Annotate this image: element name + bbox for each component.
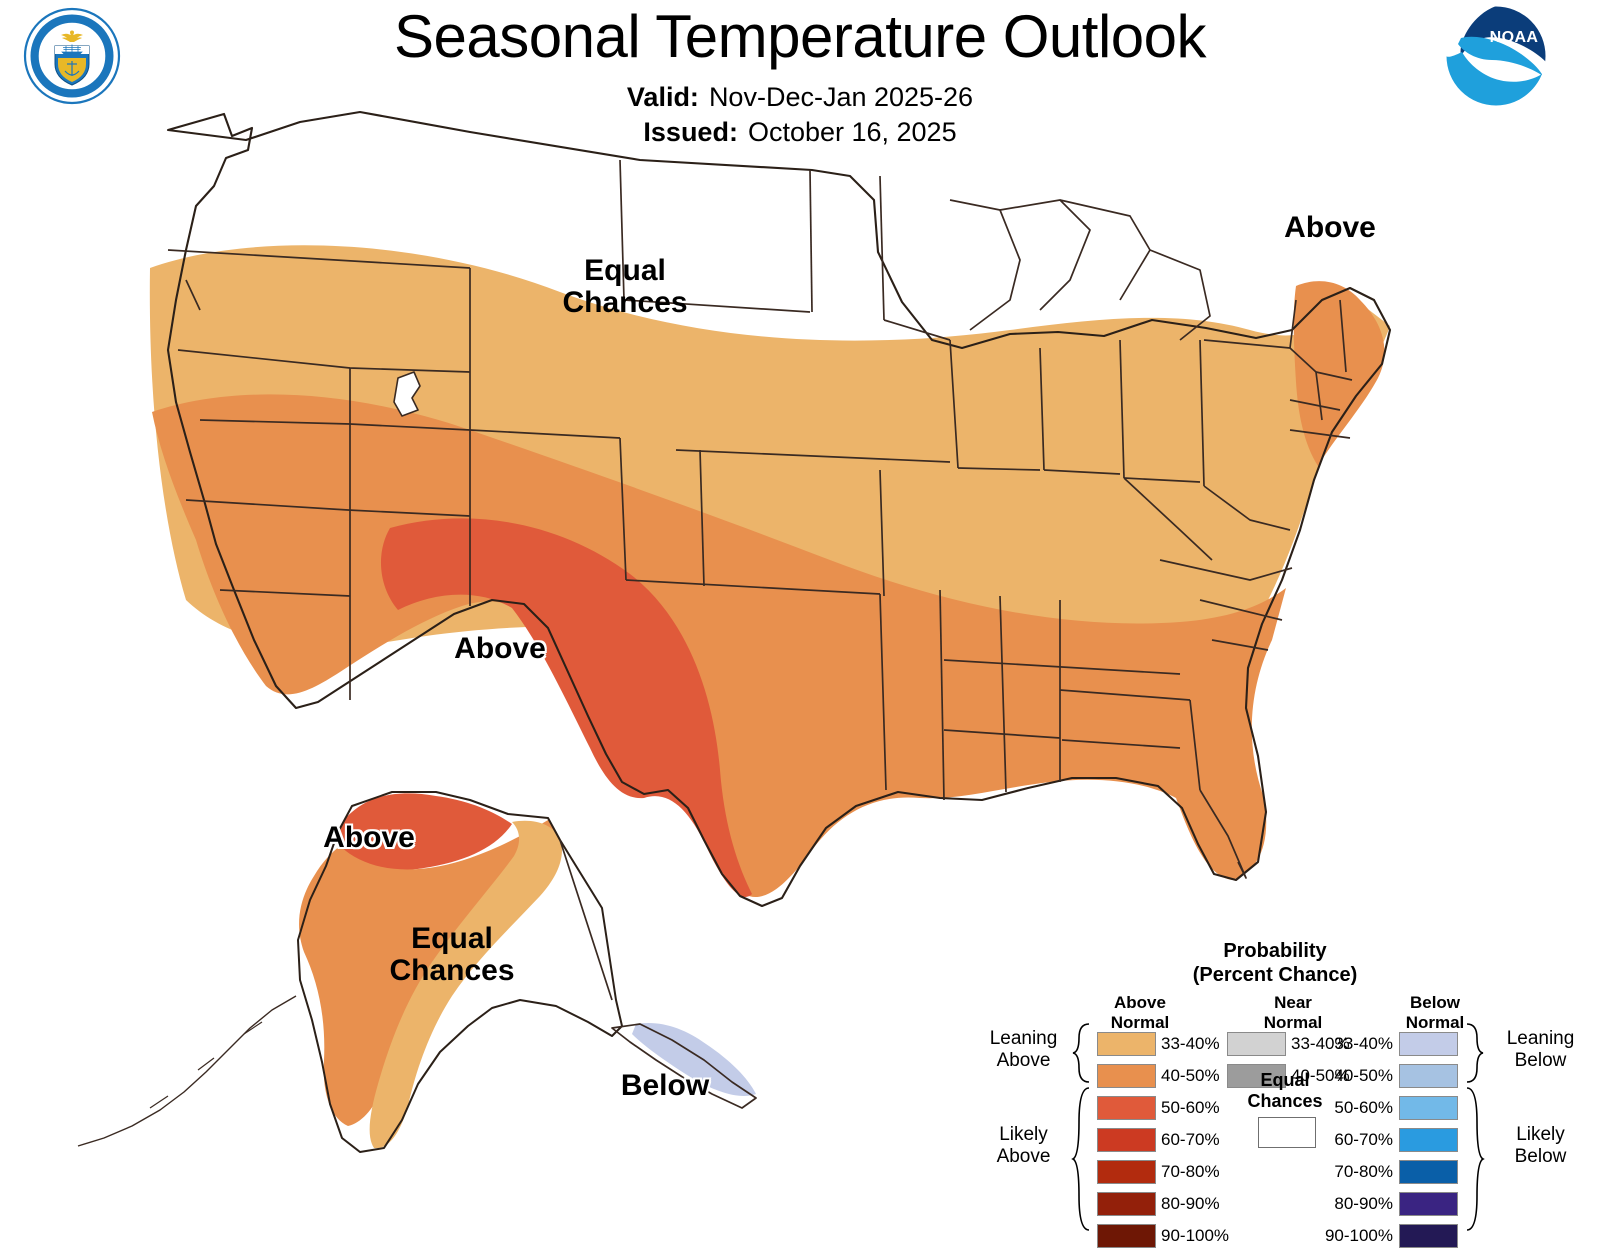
above-normal-swatch-40-50 (1097, 1064, 1156, 1088)
legend-bracket-likely-above: Likely Above (971, 1124, 1076, 1168)
below-normal-label-60-70: 60-70% (1303, 1130, 1393, 1150)
conus-probability-fills (150, 245, 1390, 897)
legend-equal-chances-label: Equal Chances (1225, 1070, 1345, 1112)
brace-leaning-below-icon (1463, 1022, 1485, 1084)
above-normal-swatch-33-40 (1097, 1032, 1156, 1056)
map-label-conus-equal-chances: Equal Chances (535, 255, 715, 319)
above-normal-label-70-80: 70-80% (1161, 1162, 1251, 1182)
legend: Probability (Percent Chance) Above Norma… (975, 940, 1595, 1230)
above-normal-swatch-80-90 (1097, 1192, 1156, 1216)
map-label-alaska-above: Above (279, 822, 459, 854)
above-normal-swatch-60-70 (1097, 1128, 1156, 1152)
above-normal-label-80-90: 80-90% (1161, 1194, 1251, 1214)
above-normal-swatch-90-100 (1097, 1224, 1156, 1248)
outlook-figure: DEPARTMENT OF COMMERCE UNITED STATES OF … (0, 0, 1600, 1236)
below-normal-swatch-50-60 (1399, 1096, 1458, 1120)
below-normal-label-90-100: 90-100% (1303, 1226, 1393, 1246)
below-normal-label-33-40: 33-40% (1303, 1034, 1393, 1054)
near-normal-swatch-33-40 (1227, 1032, 1286, 1056)
below-normal-swatch-80-90 (1399, 1192, 1458, 1216)
below-normal-swatch-40-50 (1399, 1064, 1458, 1088)
below-normal-swatch-70-80 (1399, 1160, 1458, 1184)
above-normal-label-90-100: 90-100% (1161, 1226, 1251, 1246)
map-label-alaska-equal-chances: Equal Chances (362, 923, 542, 987)
legend-equal-chances-swatch (1258, 1117, 1316, 1148)
above-normal-swatch-70-80 (1097, 1160, 1156, 1184)
band-northeast-40-50 (1294, 281, 1385, 466)
legend-bracket-likely-below: Likely Below (1488, 1124, 1593, 1168)
brace-likely-above-icon (1071, 1086, 1093, 1234)
above-normal-swatch-50-60 (1097, 1096, 1156, 1120)
brace-leaning-above-icon (1071, 1022, 1093, 1084)
map-label-alaska-below: Below (575, 1070, 755, 1102)
legend-column-above-normal: Above Normal (1080, 993, 1200, 1033)
legend-title: Probability (Percent Chance) (1125, 940, 1425, 987)
map-label-southwest-above: Above (410, 633, 590, 665)
above-normal-label-60-70: 60-70% (1161, 1130, 1251, 1150)
below-normal-swatch-90-100 (1399, 1224, 1458, 1248)
below-normal-swatch-33-40 (1399, 1032, 1458, 1056)
below-normal-label-70-80: 70-80% (1303, 1162, 1393, 1182)
below-normal-swatch-60-70 (1399, 1128, 1458, 1152)
brace-likely-below-icon (1463, 1086, 1485, 1234)
legend-column-near-normal: Near Normal (1233, 993, 1353, 1033)
legend-bracket-leaning-above: Leaning Above (971, 1028, 1076, 1072)
legend-bracket-leaning-below: Leaning Below (1488, 1028, 1593, 1072)
below-normal-label-80-90: 80-90% (1303, 1194, 1393, 1214)
map-label-northeast-above: Above (1240, 212, 1420, 244)
